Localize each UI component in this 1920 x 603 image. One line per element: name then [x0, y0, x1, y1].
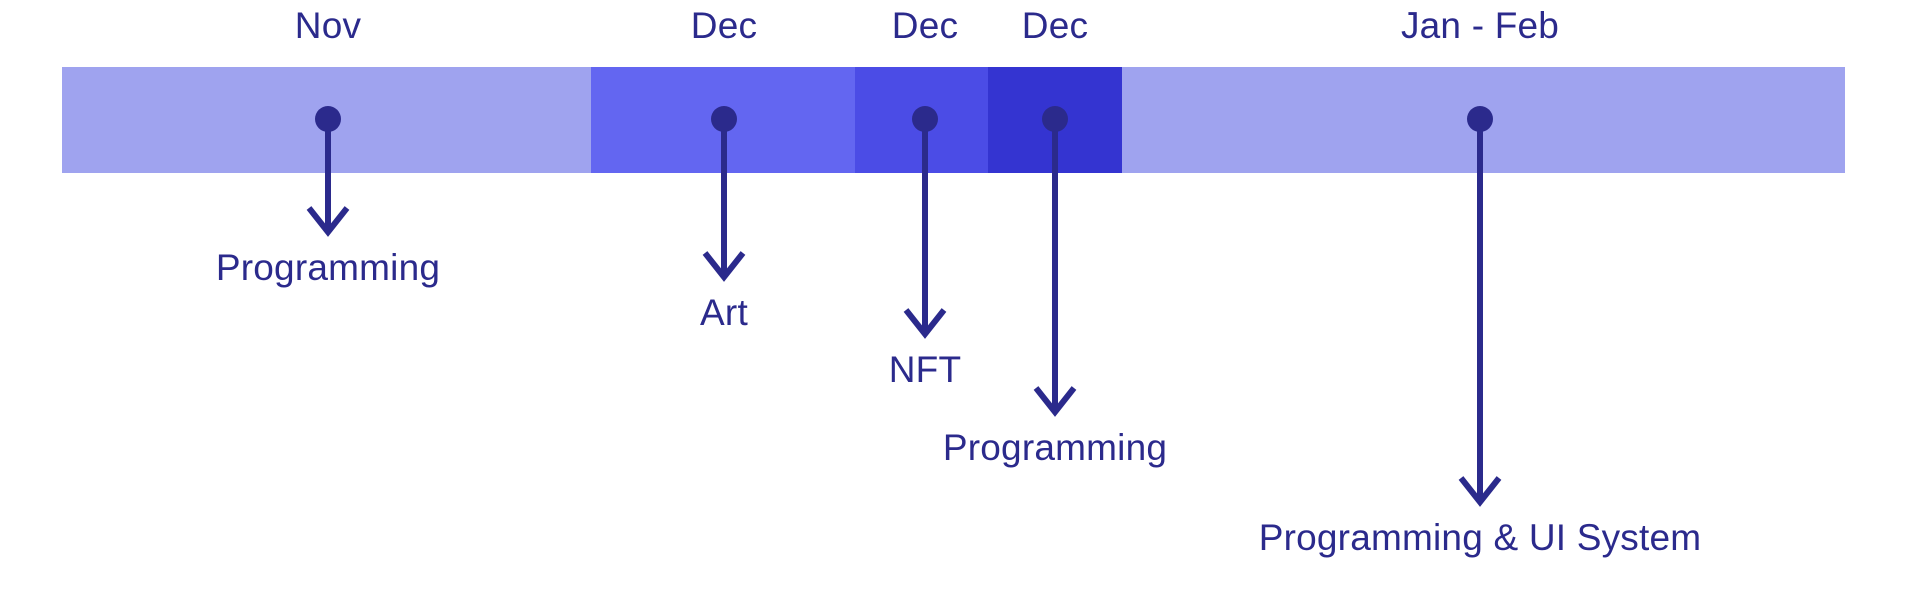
timeline-diagram: NovDecDecDecJan - Feb ProgrammingArtNFTP… — [0, 0, 1920, 603]
milestone-label: Programming & UI System — [1259, 516, 1702, 560]
arrow-down-icon — [1461, 478, 1499, 502]
arrow-down-icon — [705, 253, 743, 277]
timeline-segment-dec-block-1[interactable] — [591, 67, 855, 173]
period-label: Jan - Feb — [1401, 0, 1559, 52]
period-label: Nov — [295, 0, 361, 52]
period-label: Dec — [1022, 0, 1088, 52]
period-label: Dec — [892, 0, 958, 52]
timeline-bar — [62, 67, 1845, 173]
arrow-down-icon — [906, 310, 944, 334]
milestone-label: Programming — [216, 246, 440, 290]
timeline-segment-dec-block-2[interactable] — [855, 67, 988, 173]
timeline-segment-jan-feb-block[interactable] — [1122, 67, 1845, 173]
period-label: Dec — [691, 0, 757, 52]
arrow-down-icon — [1036, 388, 1074, 412]
milestone-label: Art — [700, 291, 748, 335]
milestone-label: NFT — [889, 348, 962, 392]
timeline-segment-nov-block[interactable] — [62, 67, 591, 173]
arrow-down-icon — [309, 208, 347, 232]
milestone-label: Programming — [943, 426, 1167, 470]
timeline-segment-dec-block-3[interactable] — [988, 67, 1122, 173]
